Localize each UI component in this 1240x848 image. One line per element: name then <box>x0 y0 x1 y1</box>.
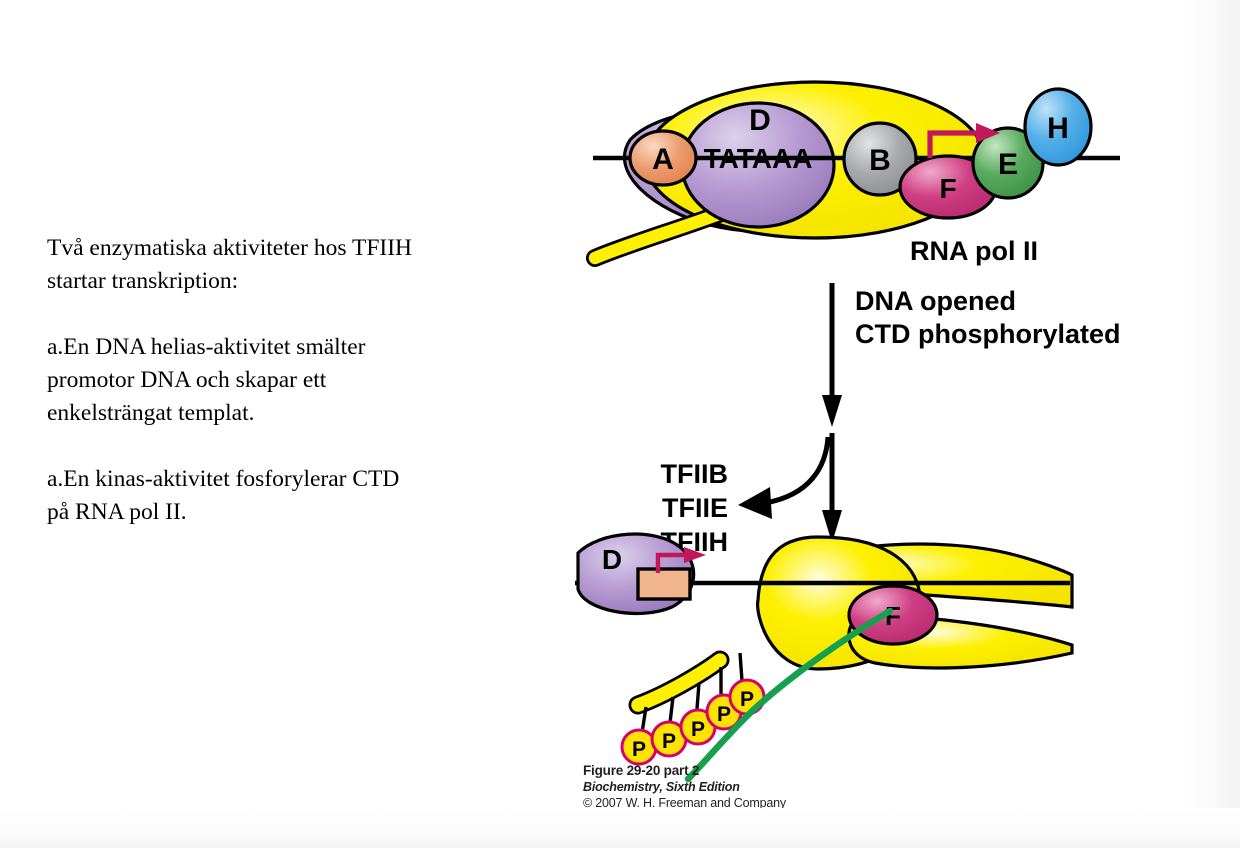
body-text-block: Två enzymatiska aktiviteter hos TFIIH st… <box>47 232 517 529</box>
intro-line-2: startar transkription: <box>47 265 517 298</box>
subunit-label-f: F <box>939 173 956 204</box>
page-edge-right-shading <box>1182 0 1240 848</box>
point-a-line-3: enkelsträngat templat. <box>47 397 517 430</box>
rna-pol-ii-label: RNA pol II <box>910 236 1038 266</box>
transition-step1-line2: CTD phosphorylated <box>855 319 1121 349</box>
subunit-label-e: E <box>998 148 1018 181</box>
subunit-label-d: D <box>749 104 771 137</box>
phosphate-label: P <box>717 703 731 726</box>
transition-step1-line1: DNA opened <box>855 286 1016 316</box>
phosphate-label: P <box>662 730 676 753</box>
caption-book-title: Biochemistry, Sixth Edition <box>583 779 786 795</box>
released-factor-tfiie: TFIIE <box>662 493 728 523</box>
phosphate-circle: P <box>622 730 656 764</box>
released-factor-tfiib: TFIIB <box>661 459 729 489</box>
top-complex-panel: TATAAA A D B F E H RNA pol II <box>593 82 1120 266</box>
figure-caption: Figure 29-20 part 2 Biochemistry, Sixth … <box>583 762 786 811</box>
bottom-complex-panel: D F <box>575 534 1072 779</box>
release-arrow-head <box>738 487 772 519</box>
caption-figure-number: Figure 29-20 part 2 <box>583 762 786 779</box>
tata-box-label: TATAAA <box>704 143 813 174</box>
subunit-label-h: H <box>1047 112 1069 145</box>
caption-copyright: © 2007 W. H. Freeman and Company <box>583 795 786 811</box>
point-a-line-1: a.En DNA helias-aktivitet smälter <box>47 331 517 364</box>
promoter-box <box>638 569 690 599</box>
ctd-tail-bottom-fill <box>638 660 720 705</box>
phosphate-label: P <box>691 718 705 741</box>
point-b-line-1: a.En kinas-aktivitet fosforylerar CTD <box>47 463 517 496</box>
intro-line-1: Två enzymatiska aktiviteter hos TFIIH <box>47 232 517 265</box>
phosphate-label: P <box>632 738 646 761</box>
slide-canvas: Två enzymatiska aktiviteter hos TFIIH st… <box>0 0 1240 848</box>
subunit-label-b: B <box>869 144 891 177</box>
figure-diagram: TATAAA A D B F E H RNA pol II DNA opened… <box>560 55 1160 835</box>
release-arrow-curve <box>765 437 828 503</box>
tfiid-label-bottom: D <box>602 544 622 575</box>
point-a-line-2: promotor DNA och skapar ett <box>47 364 517 397</box>
point-b-line-2: på RNA pol II. <box>47 496 517 529</box>
subunit-label-a: A <box>652 143 674 176</box>
transition-panel: DNA opened CTD phosphorylated TFIIB TFII… <box>661 283 1121 557</box>
transition-arrow-1-head <box>822 395 842 427</box>
